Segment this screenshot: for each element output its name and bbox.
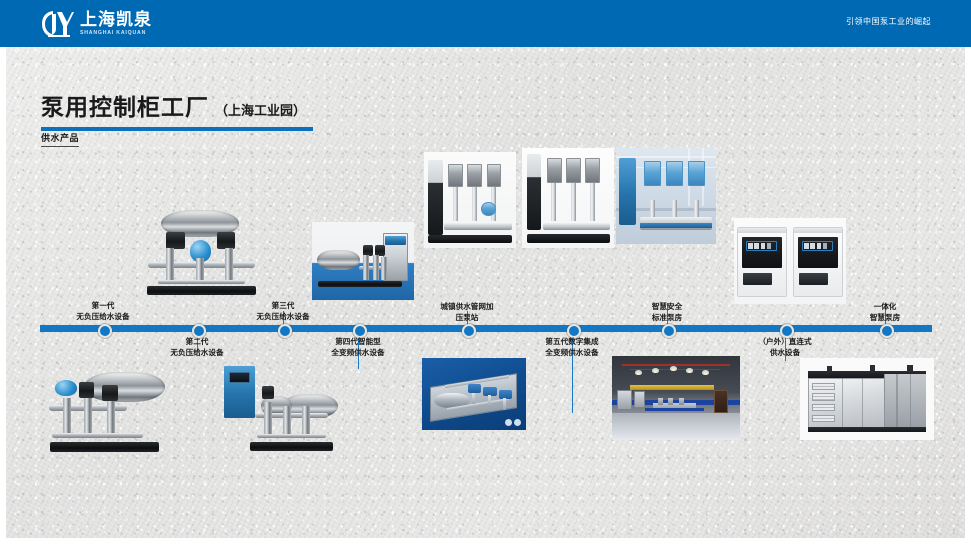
timeline-label-line1-gen2: 第二代 [170,336,223,347]
timeline-label-line2-station: 压泵站 [440,312,493,323]
timeline-label-line2-gen3: 无负压给水设备 [256,311,309,322]
integrated-smart-pump-house-photo [800,358,934,440]
timeline-label-station: 城镇供水管网加压泵站 [440,301,493,323]
section-label-supply-products: 供水产品 [41,131,79,147]
title-underline-rule [41,127,313,131]
timeline-label-line1-gen4: 第四代智能型 [331,336,384,347]
timeline-label-line1-gen5: 第五代数字集成 [545,336,598,347]
timeline-dot-station[interactable] [462,324,476,338]
kaiquan-logo-icon [40,9,74,39]
page-header: 上海凯泉 SHANGHAI KAIQUAN 引领中国泵工业的崛起 [0,0,971,47]
outdoor-direct-connect-water-supply-cabinet-photo [734,218,846,304]
timeline-label-line2-integrated: 智慧泵房 [870,312,900,323]
timeline-label-gen1: 第一代无负压给水设备 [76,300,129,322]
timeline-label-smartroom: 智慧安全标准泵房 [652,301,682,323]
timeline-label-line1-outdoor: （户外）直连式 [758,336,811,347]
timeline-label-line1-gen3: 第三代 [256,300,309,311]
timeline-label-line1-gen1: 第一代 [76,300,129,311]
fifth-generation-digital-vfd-equipment-photo [522,148,614,248]
smart-safe-standard-pump-room-photo [612,356,740,440]
timeline-dot-integrated[interactable] [880,324,894,338]
page-title-main: 泵用控制柜工厂 [41,88,209,122]
timeline-dot-gen1[interactable] [98,324,112,338]
page-edge-bottom [0,538,971,552]
brand-name-en: SHANGHAI KAIQUAN [80,31,152,36]
page-title: 泵用控制柜工厂 （上海工业园） [41,88,313,131]
brand-logo[interactable]: 上海凯泉 SHANGHAI KAIQUAN [40,9,152,39]
timeline-label-integrated: 一体化智慧泵房 [870,301,900,323]
timeline-label-gen2: 第二代无负压给水设备 [170,336,223,358]
second-generation-non-negative-pressure-equipment-photo [45,358,175,458]
third-generation-variant-photo [222,356,340,456]
timeline-label-line2-gen5: 全变频供水设备 [545,347,598,358]
timeline-dot-smartroom[interactable] [662,324,676,338]
urban-water-network-booster-station-photo [422,358,526,430]
timeline-label-gen4: 第四代智能型全变频供水设备 [331,336,384,358]
timeline-label-line1-station: 城镇供水管网加 [440,301,493,312]
timeline-label-outdoor: （户外）直连式供水设备 [758,336,811,358]
timeline-label-gen5: 第五代数字集成全变频供水设备 [545,336,598,358]
page-edge-left [0,47,6,552]
first-generation-non-negative-pressure-equipment-photo [130,198,270,298]
fourth-generation-smart-vfd-equipment-photo [424,152,516,248]
third-generation-non-negative-pressure-equipment-photo [312,222,414,300]
timeline-bar [40,325,932,332]
timeline-label-line2-gen4: 全变频供水设备 [331,347,384,358]
brand-name-cn: 上海凯泉 [80,11,152,28]
timeline-label-line2-outdoor: 供水设备 [758,347,811,358]
page-title-paren: （上海工业园） [215,100,306,119]
timeline-label-gen3: 第三代无负压给水设备 [256,300,309,322]
timeline-label-line2-smartroom: 标准泵房 [652,312,682,323]
timeline-label-line1-smartroom: 智慧安全 [652,301,682,312]
timeline-label-line2-gen2: 无负压给水设备 [170,347,223,358]
header-tagline: 引领中国泵工业的崛起 [846,16,931,27]
timeline-label-line1-integrated: 一体化 [870,301,900,312]
slide-root: 上海凯泉 SHANGHAI KAIQUAN 引领中国泵工业的崛起 泵用控制柜工厂… [0,0,971,552]
timeline-label-line2-gen1: 无负压给水设备 [76,311,129,322]
page-edge-right [965,47,971,552]
fifth-generation-integrated-vfd-equipment-photo [616,148,716,244]
timeline-dot-gen3[interactable] [278,324,292,338]
